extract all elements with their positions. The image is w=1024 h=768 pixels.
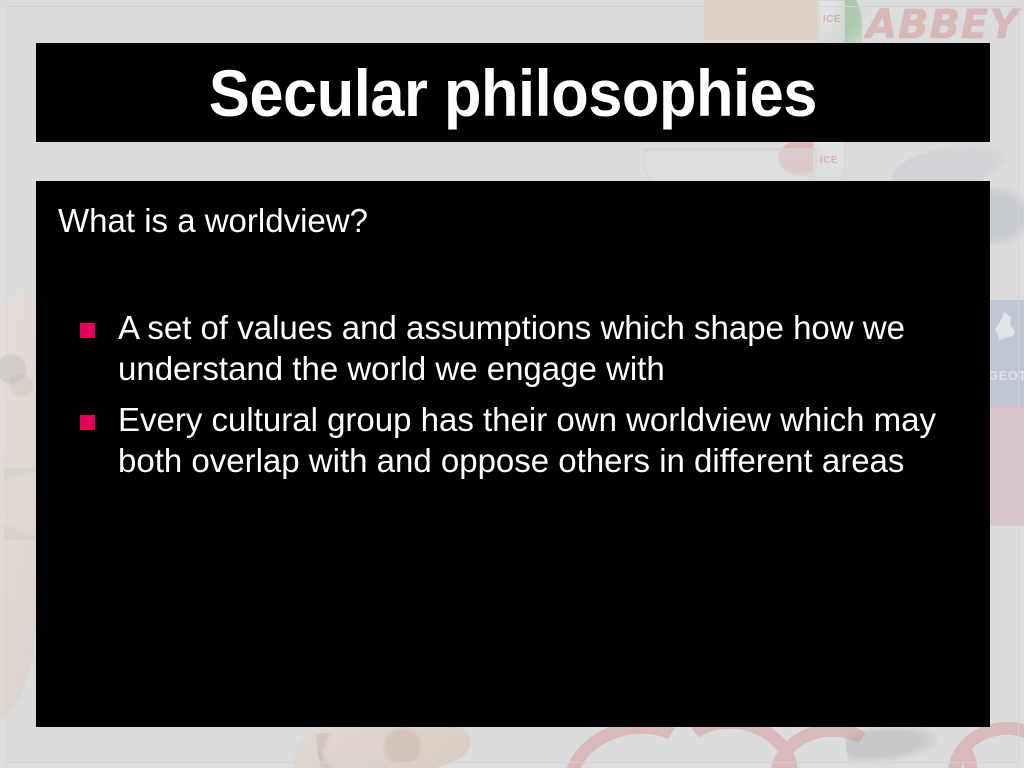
square-bullet-icon bbox=[80, 323, 95, 338]
abbey-sign-text: ABBEY N bbox=[866, 2, 1024, 48]
content-panel: What is a worldview? A set of values and… bbox=[36, 181, 990, 727]
bullet-list: A set of values and assumptions which sh… bbox=[58, 308, 964, 482]
tattoo-mark-2 bbox=[4, 468, 38, 540]
rose-panel bbox=[988, 406, 1024, 526]
list-item: A set of values and assumptions which sh… bbox=[58, 308, 964, 390]
ice-can-label-2: ICE bbox=[820, 156, 838, 166]
ice-can-label-1: ICE bbox=[823, 15, 841, 25]
slide: ICE ABBEY N ICE GEOT Secular phil bbox=[0, 0, 1024, 768]
lead-question: What is a worldview? bbox=[58, 203, 964, 240]
ice-can-1: ICE bbox=[819, 0, 845, 48]
cardboard-box-shape bbox=[704, 0, 818, 40]
list-item: Every cultural group has their own world… bbox=[58, 400, 964, 482]
list-item-text: Every cultural group has their own world… bbox=[118, 400, 964, 482]
title-bar: Secular philosophies bbox=[36, 43, 990, 142]
peugeot-text: GEOT bbox=[988, 368, 1024, 383]
list-item-text: A set of values and assumptions which sh… bbox=[118, 308, 964, 390]
page-title: Secular philosophies bbox=[209, 60, 817, 126]
square-bullet-icon bbox=[80, 415, 95, 430]
